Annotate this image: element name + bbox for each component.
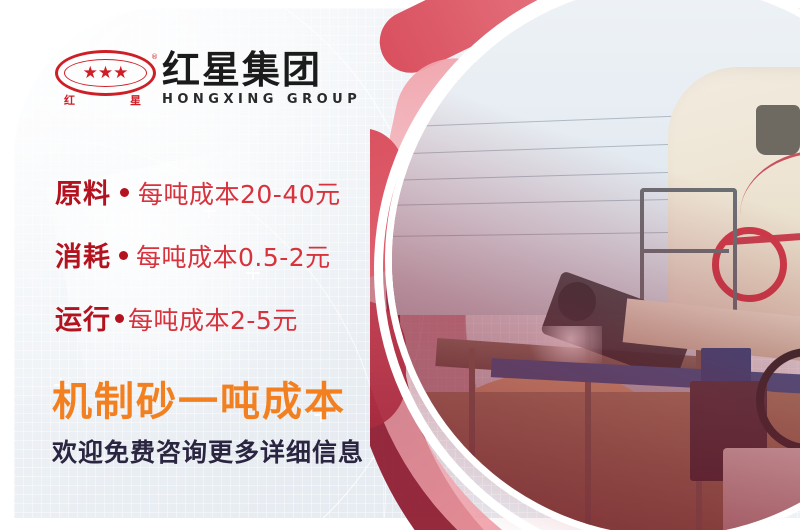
logo-name-en: HONGXING GROUP (162, 92, 361, 107)
list-item-label: 原料 (55, 172, 111, 211)
logo-oval-stars-icon: ★★★ ® (55, 50, 156, 96)
list-item-value: 每吨成本0.5-2元 (136, 238, 331, 274)
logo-mark-char-right: 星 (130, 92, 141, 108)
cost-list: 原料 每吨成本20-40元 消耗 每吨成本0.5-2元 运行 每吨成本2-5元 (55, 172, 341, 361)
headline: 机制砂一吨成本 (52, 382, 346, 422)
list-item-value: 每吨成本20-40元 (138, 175, 341, 211)
photo-composition (370, 0, 800, 530)
list-item: 运行 每吨成本2-5元 (55, 298, 341, 337)
brand-logo[interactable]: ★★★ ® 红 星 红星集团 HONGXING GROUP (55, 48, 361, 110)
subheadline: 欢迎免费咨询更多详细信息 (52, 440, 364, 465)
list-item-label: 消耗 (55, 235, 111, 274)
logo-mark-char-left: 红 (64, 92, 75, 108)
registered-mark: ® (151, 53, 158, 61)
logo-mark-subtext: 红 星 (55, 92, 150, 108)
bullet-dot-icon (120, 188, 129, 197)
list-item-label: 运行 (55, 298, 111, 337)
list-item: 消耗 每吨成本0.5-2元 (55, 235, 341, 274)
logo-name-cn: 红星集团 (162, 51, 361, 89)
list-item: 原料 每吨成本20-40元 (55, 172, 341, 211)
list-item-value: 每吨成本2-5元 (128, 301, 298, 337)
logo-wordmark: 红星集团 HONGXING GROUP (162, 51, 361, 107)
logo-mark: ★★★ ® 红 星 (55, 48, 150, 110)
star-icon: ★★★ (83, 65, 129, 82)
bullet-dot-icon (119, 251, 128, 260)
bullet-dot-icon (115, 314, 124, 323)
promo-banner: ★★★ ® 红 星 红星集团 HONGXING GROUP 原料 每吨成本20-… (0, 0, 800, 530)
